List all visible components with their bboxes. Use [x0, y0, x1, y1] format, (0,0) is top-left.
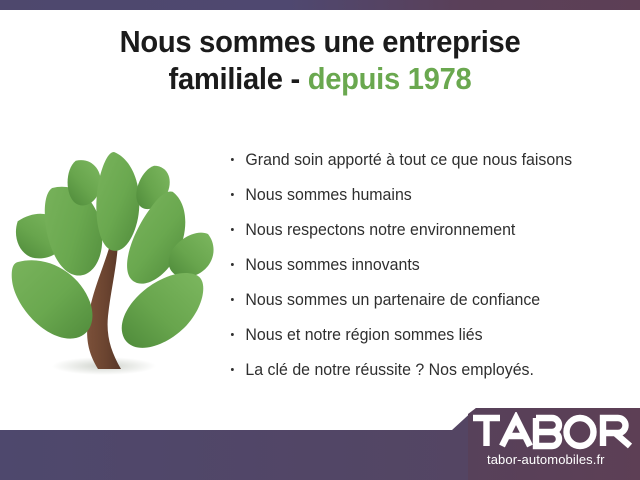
- list-item-label: Nous respectons notre environnement: [245, 221, 515, 239]
- list-item: Nous sommes innovants: [229, 253, 615, 288]
- logo-letter-b: [536, 418, 559, 446]
- brand-lockup: tabor-automobiles.fr: [470, 412, 640, 474]
- list-item-label: La clé de notre réussite ? Nos employés.: [245, 361, 534, 379]
- logo-letter-a: [502, 418, 530, 446]
- list-item: Nous et notre région sommes liés: [229, 323, 615, 358]
- page-title: Nous sommes une entreprise familiale - d…: [19, 24, 621, 97]
- bullet-dot-icon: [231, 298, 234, 301]
- list-item-label: Nous sommes innovants: [245, 256, 419, 274]
- top-accent-strip: [0, 0, 640, 10]
- list-item: Nous respectons notre environnement: [229, 218, 615, 253]
- tree-leaf: [96, 152, 139, 251]
- bullet-dot-icon: [231, 158, 234, 161]
- page-title-line-1: Nous sommes une entreprise: [19, 24, 621, 61]
- bullet-dot-icon: [231, 263, 234, 266]
- bullet-dot-icon: [231, 333, 234, 336]
- slide-canvas: Nous sommes une entreprise familiale - d…: [0, 0, 640, 480]
- page-title-line-2-main: familiale -: [169, 61, 308, 96]
- tabor-logo: [470, 412, 634, 450]
- logo-letter-o: [567, 418, 594, 446]
- list-item-label: Nous sommes un partenaire de confiance: [245, 291, 540, 309]
- brand-url: tabor-automobiles.fr: [487, 452, 637, 467]
- tree-leaf: [122, 273, 204, 348]
- list-item-label: Grand soin apporté à tout ce que nous fa…: [245, 151, 572, 169]
- bullet-dot-icon: [231, 193, 234, 196]
- list-item: Nous sommes un partenaire de confiance: [229, 288, 615, 323]
- list-item-label: Nous et notre région sommes liés: [245, 326, 482, 344]
- page-title-accent: depuis 1978: [308, 61, 472, 96]
- bullet-dot-icon: [231, 368, 234, 371]
- list-item-label: Nous sommes humains: [245, 186, 411, 204]
- logo-letter-t: [473, 418, 500, 446]
- page-title-line-2: familiale - depuis 1978: [19, 61, 621, 98]
- logo-letter-r: [603, 418, 630, 446]
- benefits-list: Grand soin apporté à tout ce que nous fa…: [229, 148, 629, 393]
- bullet-dot-icon: [231, 228, 234, 231]
- list-item: Grand soin apporté à tout ce que nous fa…: [229, 148, 615, 183]
- list-item: La clé de notre réussite ? Nos employés.: [229, 358, 615, 393]
- tree-illustration: [8, 150, 220, 390]
- list-item: Nous sommes humains: [229, 183, 615, 218]
